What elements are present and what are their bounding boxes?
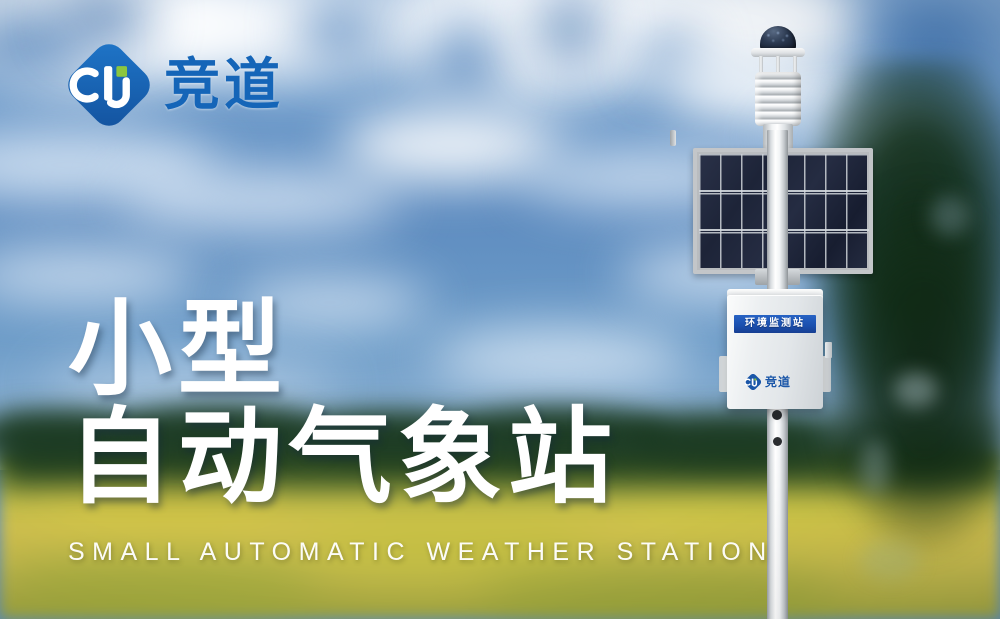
enclosure-mount-flange	[822, 356, 831, 392]
subtitle: SMALL AUTOMATIC WEATHER STATION	[68, 538, 774, 567]
headline-line-1: 小型	[68, 296, 618, 404]
page-title: 小型 自动气象站	[68, 296, 618, 512]
mast-cable-hole	[773, 437, 782, 446]
tree-light-gap	[894, 372, 938, 408]
enclosure-brand-logo: 竞道	[745, 373, 807, 390]
enclosure-label-banner: 环境监测站	[734, 315, 816, 333]
cloud-shape	[120, 170, 400, 230]
jingdao-diamond-logo-icon	[68, 44, 150, 126]
cloud-shape	[430, 20, 500, 110]
brand-logo[interactable]: 竞道	[68, 44, 284, 126]
brand-name: 竞道	[164, 57, 284, 113]
jingdao-diamond-logo-icon	[745, 374, 761, 390]
weather-station-product: 环境监测站 竞道	[655, 26, 895, 619]
cloud-shape	[300, 0, 380, 60]
enclosure-label-text: 环境监测站	[745, 319, 805, 329]
enclosure-side-tab	[825, 342, 832, 358]
control-enclosure-box	[727, 295, 823, 409]
enclosure-bottom-gland	[772, 410, 782, 420]
sensor-cable-clip	[670, 130, 676, 146]
radiation-shield-louvers	[755, 72, 801, 126]
weather-station-hero-banner: 环境监测站 竞道	[0, 0, 1000, 619]
enclosure-brand-text: 竞道	[765, 376, 791, 388]
tree-light-gap	[930, 196, 970, 236]
headline-line-2: 自动气象站	[68, 404, 618, 512]
